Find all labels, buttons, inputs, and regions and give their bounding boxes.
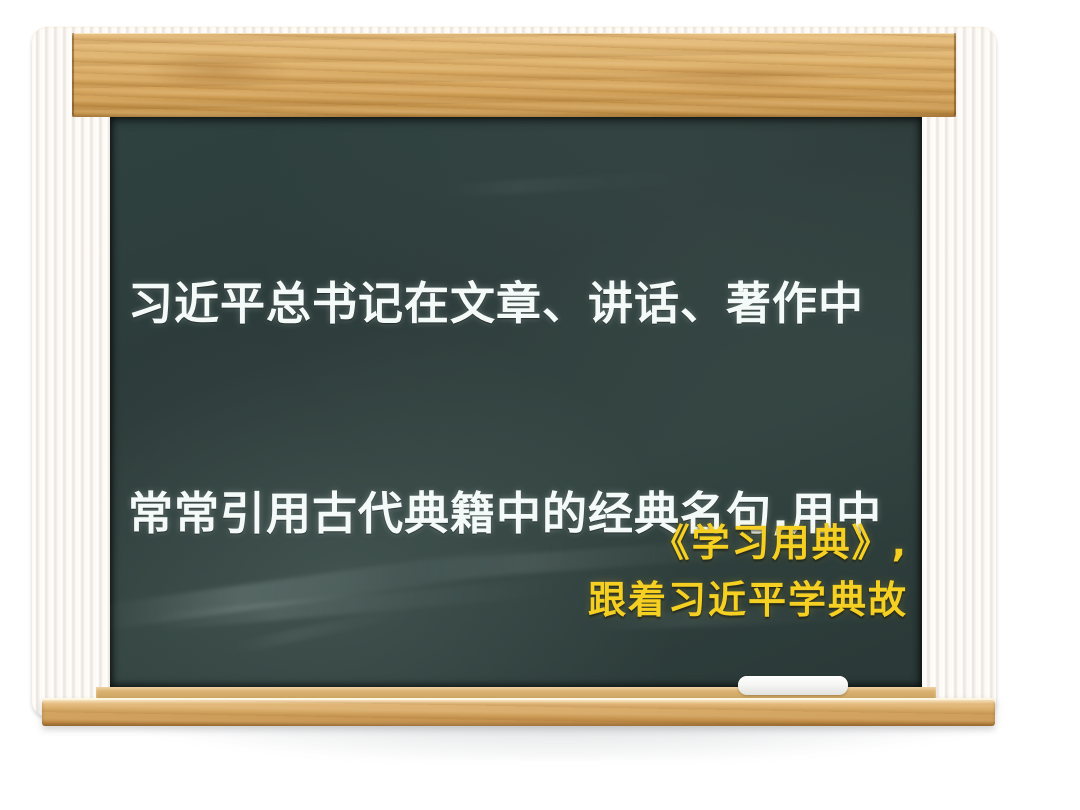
frame-top-rail xyxy=(72,33,956,117)
signature-book-title: 《学习用典》, xyxy=(588,515,908,572)
chalk-stick-icon xyxy=(738,676,848,695)
wood-grain-knot xyxy=(632,63,842,93)
signature-block: 《学习用典》, 跟着习近平学典故 xyxy=(588,515,908,629)
chalkboard-surface: 习近平总书记在文章、讲话、著作中 常常引用古代典籍中的经典名句,用中 国经典讲"… xyxy=(110,117,922,687)
signature-tagline: 跟着习近平学典故 xyxy=(588,572,908,629)
frame-mitre-seam-right xyxy=(954,33,956,117)
wood-grain-knot xyxy=(142,51,292,91)
poster-stage: 习近平总书记在文章、讲话、著作中 常常引用古代典籍中的经典名句,用中 国经典讲"… xyxy=(0,0,1080,810)
body-text-line: 习近平总书记在文章、讲话、著作中 xyxy=(128,269,918,339)
frame-mitre-seam-left xyxy=(72,33,74,117)
chalk-tray-highlight xyxy=(42,698,995,704)
